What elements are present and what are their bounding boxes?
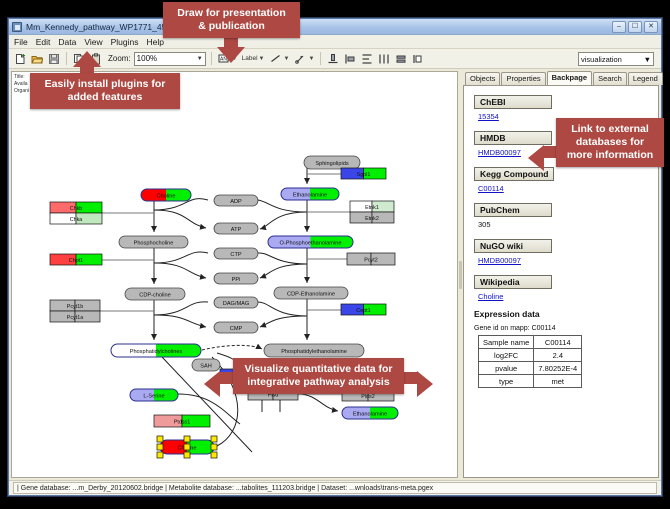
xref-nugo-link[interactable]: HMDB00097 (478, 256, 521, 265)
minimize-button[interactable]: – (612, 21, 626, 33)
xref-nugo: NuGO wiki HMDB00097 (474, 236, 650, 265)
xref-pubchem: PubChem 305 (474, 200, 650, 229)
chevron-down-icon: ▼ (308, 56, 314, 62)
common-width-icon[interactable] (394, 52, 408, 66)
selection-handle[interactable] (184, 452, 190, 458)
pathway-gene-ptdss1[interactable]: Ptdss1 (154, 415, 210, 427)
menu-item-data[interactable]: Data (58, 37, 76, 47)
pathway-node-label: Ethanolamine (293, 193, 327, 199)
pathway-diagram[interactable]: SphingolipidsCholineEthanolamineADPATPPh… (12, 72, 424, 478)
pathway-node-atp[interactable]: ATP (214, 223, 258, 234)
pathway-node-phosphatidylethanolamine[interactable]: Phosphatidylethanolamine (264, 344, 364, 357)
pathway-node-label: L-Serine (143, 394, 164, 400)
pathway-gene-etnk1-etnk2[interactable]: Etnk1Etnk2 (350, 201, 394, 223)
pathway-gene-pcyt2[interactable]: Pcyt2 (347, 253, 395, 265)
line-tool-button[interactable]: ▼ (268, 52, 290, 66)
callout-visualize-stem-left (220, 372, 234, 384)
chevron-down-icon: ▼ (259, 56, 265, 62)
callout-visualize-arrow-left (204, 371, 220, 397)
selection-handle[interactable] (157, 444, 163, 450)
pathway-node-ethanolamine-top[interactable]: Ethanolamine (281, 188, 339, 200)
visualization-value: visualization (581, 55, 622, 64)
callout-plugins-text: Easily install plugins foradded features (45, 78, 166, 103)
pathway-node-choline-selected[interactable]: Choline (157, 436, 217, 458)
callout-plugins-arrow (73, 51, 101, 67)
pathvisio-app-icon (12, 22, 22, 32)
selection-handle[interactable] (211, 444, 217, 450)
pathway-node-l-serine-left[interactable]: L-Serine (130, 389, 178, 401)
pathway-node-label: CDP-choline (139, 293, 170, 299)
line-icon (268, 52, 282, 66)
selection-handle[interactable] (211, 436, 217, 442)
pathway-gene-label: Etnk1 (365, 205, 379, 211)
pathway-gene-label: Chpt1 (69, 258, 83, 264)
pathway-node-phosphocholine[interactable]: Phosphocholine (119, 236, 188, 248)
selection-handle[interactable] (184, 444, 190, 450)
pathway-gene-sgpl1[interactable]: Sgpl1 (341, 168, 386, 179)
menu-item-view[interactable]: View (84, 37, 102, 47)
status-bar-text: | Gene database: ...m_Derby_20120602.bri… (13, 482, 657, 494)
gene-id-line: Gene id on mapp: C00114 (474, 325, 650, 332)
pathway-node-label: DAG/MAG (223, 301, 249, 307)
pathway-node-label: CDP-Ethanolamine (287, 292, 335, 298)
tab-search[interactable]: Search (593, 72, 627, 85)
callout-links: Link to externaldatabases formore inform… (556, 118, 664, 167)
zoom-label: Zoom: (108, 54, 131, 63)
expr-cell-value: C00114 (534, 336, 582, 349)
tab-legend[interactable]: Legend (628, 72, 663, 85)
side-panel-tabstrip: Objects Properties Backpage Search Legen… (463, 71, 659, 85)
pathway-node-label: ATP (231, 227, 242, 233)
pathway-gene-cept1[interactable]: Cept1 (341, 304, 386, 315)
common-height-icon[interactable] (411, 52, 425, 66)
expr-cell-value: 7.80252E-4 (534, 362, 582, 375)
callout-visualize-stem-right (403, 372, 417, 384)
callout-visualize-arrow-right (417, 371, 433, 397)
close-button[interactable]: ✕ (644, 21, 658, 33)
pathway-gene-label: Plds2 (361, 394, 375, 400)
callout-draw-text: Draw for presentation& publication (177, 7, 286, 32)
maximize-button[interactable]: ☐ (628, 21, 642, 33)
pathway-node-label: Phosphatidylethanolamine (281, 349, 347, 355)
xref-wikipedia-header: Wikipedia (474, 275, 552, 289)
floppy-disk-icon[interactable] (47, 52, 61, 66)
chevron-down-icon: ▼ (197, 56, 203, 62)
xref-chebi-header: ChEBI (474, 95, 552, 109)
xref-chebi: ChEBI 15354 (474, 92, 650, 121)
selection-handle[interactable] (157, 436, 163, 442)
pathway-node-label: Choline (157, 194, 176, 200)
pathway-node-choline-top[interactable]: Choline (141, 189, 191, 201)
pathway-node-label: CTP (230, 252, 241, 258)
pathway-node-phosphatidylcholines[interactable]: Phosphatidylcholines (111, 344, 201, 357)
pathway-node-o-phosphoethanolamine[interactable]: O-Phosphoethanolamine (268, 236, 353, 248)
menu-bar: File Edit Data View Plugins Help (9, 35, 661, 49)
pathway-gene-label: Ptdss1 (174, 419, 190, 425)
pathway-gene-pcyt1b-pcyt1a[interactable]: Pcyt1bPcyt1a (50, 300, 100, 322)
pathway-node-adp[interactable]: ADP (214, 195, 258, 206)
label-tool-button[interactable]: Label ▼ (242, 55, 266, 62)
callout-visualize: Visualize quantitative data forintegrati… (233, 358, 404, 394)
table-row: type met (479, 375, 582, 388)
selection-handle[interactable] (184, 436, 190, 442)
xref-kegg: Kegg Compound C00114 (474, 164, 650, 193)
pathway-gene-label: Pcyt1a (67, 315, 83, 321)
pathway-node-sah[interactable]: SAH (192, 359, 220, 371)
tab-backpage[interactable]: Backpage (547, 71, 592, 85)
xref-wikipedia-value: Choline (478, 292, 650, 301)
pathway-node-label: SAH (200, 364, 212, 370)
menu-item-file[interactable]: File (14, 37, 28, 47)
xref-pubchem-header: PubChem (474, 203, 552, 217)
callout-draw: Draw for presentation& publication (163, 2, 300, 38)
callout-draw-arrow (217, 47, 245, 63)
align-left-icon[interactable] (343, 52, 357, 66)
pathway-node-ppi[interactable]: PPi (214, 273, 258, 284)
table-row: log2FC 2.4 (479, 349, 582, 362)
stack-vertical-icon[interactable] (360, 52, 374, 66)
pathway-gene-chpt1[interactable]: Chpt1 (50, 254, 102, 265)
xref-chebi-link[interactable]: 15354 (478, 112, 499, 121)
pathway-node-ethanolamine-right[interactable]: Ethanolamine (342, 407, 398, 419)
xref-nugo-header: NuGO wiki (474, 239, 552, 253)
pathway-node-dagmag[interactable]: DAG/MAG (214, 297, 258, 308)
xref-kegg-link[interactable]: C00114 (478, 184, 504, 193)
pathway-node-cdp-ethanolamine[interactable]: CDP-Ethanolamine (274, 287, 348, 299)
menu-item-plugins[interactable]: Plugins (111, 37, 139, 47)
xref-pubchem-value: 305 (478, 220, 650, 229)
table-row: Sample name C00114 (479, 336, 582, 349)
expression-table: Sample name C00114 log2FC 2.4 pvalue 7.8… (478, 335, 582, 388)
expr-cell-label: log2FC (479, 349, 534, 362)
pathway-node-label: Ethanolamine (353, 412, 387, 418)
open-folder-icon[interactable] (30, 52, 44, 66)
zoom-combo[interactable]: 100% ▼ (134, 52, 206, 66)
pathway-gene-label: Chkb (70, 206, 83, 212)
pathway-node-label: Phosphocholine (134, 241, 174, 247)
pathway-gene-label: Pcyt2 (364, 257, 377, 263)
xref-kegg-value: C00114 (478, 184, 650, 193)
xref-wikipedia: Wikipedia Choline (474, 272, 650, 301)
selection-handle[interactable] (211, 452, 217, 458)
tab-properties[interactable]: Properties (501, 72, 545, 85)
expr-cell-label: type (479, 375, 534, 388)
expr-cell-label: pvalue (479, 362, 534, 375)
window-titlebar: Mm_Kennedy_pathway_WP1771_45176.gpml – ☐… (9, 19, 661, 35)
new-document-icon[interactable] (13, 52, 27, 66)
expr-cell-label: Sample name (479, 336, 534, 349)
xref-hmdb-link[interactable]: HMDB00097 (478, 148, 521, 157)
pathway-node-label: PPi (232, 277, 241, 283)
pathway-node-label: Phosphatidylcholines (130, 349, 183, 355)
xref-wikipedia-link[interactable]: Choline (478, 292, 503, 301)
pathway-node-cmp[interactable]: CMP (214, 322, 258, 333)
xref-nugo-value: HMDB00097 (478, 256, 650, 265)
status-bar: | Gene database: ...m_Derby_20120602.bri… (9, 480, 661, 495)
callout-visualize-text: Visualize quantitative data forintegrati… (244, 363, 392, 388)
pathway-gene-label: Chka (70, 217, 83, 223)
pathway-node-label: CMP (230, 326, 243, 332)
callout-links-arrow (528, 145, 544, 171)
distribute-horizontal-icon[interactable] (377, 52, 391, 66)
pathway-gene-label: Etnk2 (365, 216, 379, 222)
pathway-node-label: ADP (230, 199, 242, 205)
pathway-gene-label: Cept1 (356, 308, 370, 314)
pathway-node-sphingolipids[interactable]: Sphingolipids (304, 156, 360, 169)
tab-objects[interactable]: Objects (465, 72, 500, 85)
expression-data-title: Expression data (474, 309, 650, 319)
expr-cell-value: met (534, 375, 582, 388)
pathway-canvas[interactable]: Title: Availa Organi (11, 71, 458, 478)
menu-item-edit[interactable]: Edit (36, 37, 51, 47)
xref-hmdb-header: HMDB (474, 131, 552, 145)
table-row: pvalue 7.80252E-4 (479, 362, 582, 375)
pathway-node-cdp-choline[interactable]: CDP-choline (125, 288, 185, 300)
pathway-gene-label: Pcyt1b (67, 304, 83, 310)
zoom-value: 100% (137, 54, 157, 63)
expr-cell-value: 2.4 (534, 349, 582, 362)
pathway-gene-label: Sgpl1 (357, 172, 371, 178)
pathway-node-label: O-Phosphoethanolamine (280, 241, 342, 247)
visualization-combo[interactable]: visualization ▼ (578, 52, 654, 66)
callout-links-text: Link to externaldatabases formore inform… (567, 123, 653, 161)
align-bottom-icon[interactable] (326, 52, 340, 66)
chevron-down-icon: ▼ (644, 55, 651, 64)
menu-item-help[interactable]: Help (147, 37, 164, 47)
pathway-gene-chkb-chka[interactable]: ChkbChka (50, 202, 102, 224)
selection-handle[interactable] (157, 452, 163, 458)
interaction-icon (293, 52, 307, 66)
callout-plugins: Easily install plugins foradded features (30, 73, 180, 109)
pathway-node-label: Sphingolipids (315, 161, 348, 167)
interaction-tool-button[interactable]: ▼ (293, 52, 315, 66)
toolbar: Zoom: 100% ▼ AN ▼ Label ▼ ▼ ▼ (9, 49, 661, 69)
chevron-down-icon: ▼ (283, 56, 289, 62)
pathway-node-ctp[interactable]: CTP (214, 248, 258, 259)
